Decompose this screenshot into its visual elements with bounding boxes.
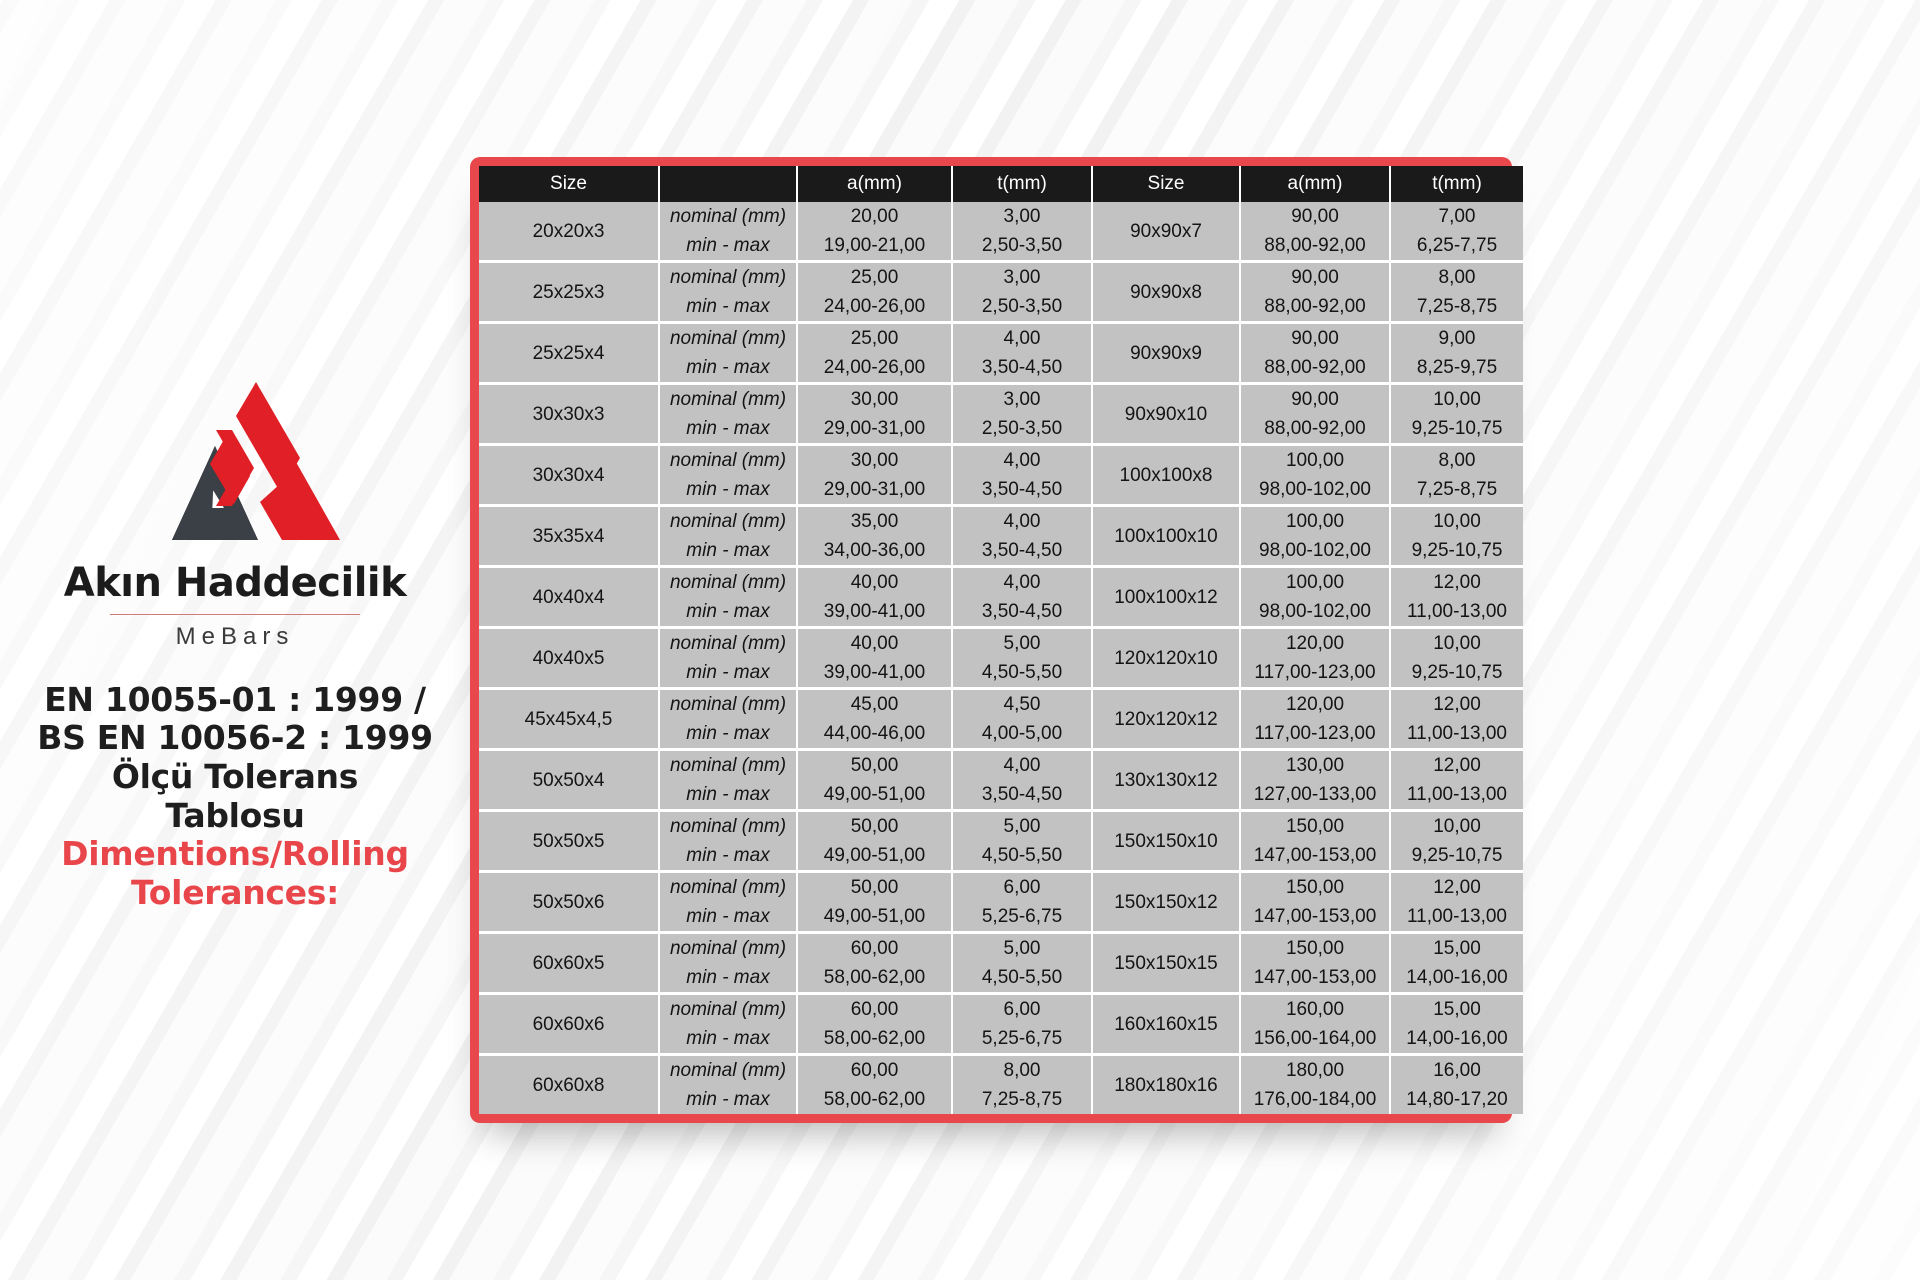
table-row: 40x40x5nominal (mm)40,005,00120x120x1012… (479, 628, 1523, 659)
cell-a-minmax-right: 98,00-102,00 (1240, 475, 1390, 506)
cell-size-right: 90x90x7 (1092, 202, 1240, 262)
cell-t-nominal-left: 3,00 (952, 384, 1092, 415)
cell-t-nominal-right: 9,00 (1390, 323, 1523, 354)
header-t-right: t(mm) (1390, 166, 1523, 202)
cell-a-minmax-left: 44,00-46,00 (797, 719, 952, 750)
cell-t-minmax-left: 5,25-6,75 (952, 902, 1092, 933)
cell-t-nominal-right: 12,00 (1390, 689, 1523, 720)
cell-t-nominal-left: 8,00 (952, 1055, 1092, 1086)
cell-a-minmax-right: 147,00-153,00 (1240, 841, 1390, 872)
cell-label-nominal: nominal (mm) (659, 1055, 797, 1086)
cell-size-left: 50x50x6 (479, 872, 659, 933)
cell-size-right: 160x160x15 (1092, 994, 1240, 1055)
cell-label-nominal: nominal (mm) (659, 811, 797, 842)
cell-a-nominal-left: 60,00 (797, 933, 952, 964)
cell-size-left: 45x45x4,5 (479, 689, 659, 750)
cell-t-nominal-right: 12,00 (1390, 872, 1523, 903)
cell-size-right: 150x150x15 (1092, 933, 1240, 994)
table-row: 45x45x4,5nominal (mm)45,004,50120x120x12… (479, 689, 1523, 720)
cell-a-nominal-right: 90,00 (1240, 202, 1390, 231)
cell-size-left: 60x60x8 (479, 1055, 659, 1115)
cell-t-minmax-right: 8,25-9,75 (1390, 353, 1523, 384)
cell-a-nominal-left: 40,00 (797, 628, 952, 659)
cell-size-left: 25x25x4 (479, 323, 659, 384)
title-red-line-1: Dimentions/Rolling (37, 835, 433, 874)
cell-t-minmax-right: 14,00-16,00 (1390, 1024, 1523, 1055)
cell-t-minmax-left: 4,50-5,50 (952, 658, 1092, 689)
cell-a-nominal-left: 50,00 (797, 811, 952, 842)
cell-label-nominal: nominal (mm) (659, 567, 797, 598)
cell-size-left: 60x60x6 (479, 994, 659, 1055)
cell-t-minmax-left: 3,50-4,50 (952, 475, 1092, 506)
cell-t-nominal-right: 16,00 (1390, 1055, 1523, 1086)
cell-a-minmax-right: 98,00-102,00 (1240, 597, 1390, 628)
cell-a-minmax-right: 147,00-153,00 (1240, 902, 1390, 933)
cell-size-right: 180x180x16 (1092, 1055, 1240, 1115)
cell-t-minmax-left: 2,50-3,50 (952, 292, 1092, 323)
cell-a-nominal-right: 150,00 (1240, 811, 1390, 842)
table-row: 50x50x4nominal (mm)50,004,00130x130x1213… (479, 750, 1523, 781)
cell-a-minmax-right: 127,00-133,00 (1240, 780, 1390, 811)
cell-a-nominal-left: 30,00 (797, 445, 952, 476)
cell-a-minmax-left: 58,00-62,00 (797, 963, 952, 994)
cell-a-minmax-left: 58,00-62,00 (797, 1024, 952, 1055)
cell-label-minmax: min - max (659, 1024, 797, 1055)
cell-t-nominal-right: 7,00 (1390, 202, 1523, 231)
cell-size-left: 40x40x4 (479, 567, 659, 628)
brand-divider (110, 614, 360, 615)
cell-size-left: 50x50x5 (479, 811, 659, 872)
cell-size-left: 35x35x4 (479, 506, 659, 567)
cell-t-minmax-right: 6,25-7,75 (1390, 231, 1523, 262)
table-header-row: Size a(mm) t(mm) Size a(mm) t(mm) (479, 166, 1523, 202)
page-root: Akın Haddecilik MeBars EN 10055-01 : 199… (0, 0, 1920, 1280)
header-t-left: t(mm) (952, 166, 1092, 202)
cell-t-minmax-left: 5,25-6,75 (952, 1024, 1092, 1055)
cell-t-minmax-left: 4,00-5,00 (952, 719, 1092, 750)
cell-t-nominal-right: 15,00 (1390, 933, 1523, 964)
cell-t-nominal-left: 5,00 (952, 811, 1092, 842)
cell-a-minmax-right: 117,00-123,00 (1240, 658, 1390, 689)
cell-size-left: 25x25x3 (479, 262, 659, 323)
akin-haddecilik-logo-icon (110, 368, 360, 548)
cell-size-right: 150x150x10 (1092, 811, 1240, 872)
cell-a-nominal-right: 100,00 (1240, 506, 1390, 537)
cell-label-nominal: nominal (mm) (659, 384, 797, 415)
cell-size-right: 100x100x10 (1092, 506, 1240, 567)
cell-label-minmax: min - max (659, 1085, 797, 1114)
cell-a-nominal-left: 25,00 (797, 262, 952, 293)
cell-a-minmax-left: 49,00-51,00 (797, 780, 952, 811)
cell-label-minmax: min - max (659, 780, 797, 811)
cell-label-nominal: nominal (mm) (659, 689, 797, 720)
cell-t-minmax-right: 9,25-10,75 (1390, 841, 1523, 872)
table-row: 30x30x3nominal (mm)30,003,0090x90x1090,0… (479, 384, 1523, 415)
cell-label-minmax: min - max (659, 719, 797, 750)
cell-a-nominal-right: 120,00 (1240, 628, 1390, 659)
cell-t-nominal-left: 4,00 (952, 323, 1092, 354)
cell-t-nominal-right: 12,00 (1390, 750, 1523, 781)
cell-label-nominal: nominal (mm) (659, 628, 797, 659)
title-line-1: EN 10055-01 : 1999 / (37, 681, 433, 720)
brand-subtitle: MeBars (176, 623, 295, 651)
cell-a-nominal-right: 130,00 (1240, 750, 1390, 781)
cell-a-nominal-right: 90,00 (1240, 323, 1390, 354)
header-measure-type (659, 166, 797, 202)
cell-a-minmax-right: 88,00-92,00 (1240, 231, 1390, 262)
cell-t-nominal-left: 3,00 (952, 262, 1092, 293)
cell-t-minmax-left: 3,50-4,50 (952, 353, 1092, 384)
cell-t-nominal-left: 5,00 (952, 933, 1092, 964)
cell-a-minmax-left: 24,00-26,00 (797, 292, 952, 323)
cell-size-left: 30x30x3 (479, 384, 659, 445)
cell-a-minmax-left: 19,00-21,00 (797, 231, 952, 262)
cell-t-nominal-left: 4,00 (952, 445, 1092, 476)
table-row: 40x40x4nominal (mm)40,004,00100x100x1210… (479, 567, 1523, 598)
cell-t-nominal-right: 8,00 (1390, 445, 1523, 476)
cell-a-minmax-right: 88,00-92,00 (1240, 353, 1390, 384)
cell-t-minmax-right: 7,25-8,75 (1390, 292, 1523, 323)
cell-label-nominal: nominal (mm) (659, 872, 797, 903)
cell-label-nominal: nominal (mm) (659, 750, 797, 781)
cell-size-left: 60x60x5 (479, 933, 659, 994)
cell-size-right: 130x130x12 (1092, 750, 1240, 811)
cell-a-minmax-left: 29,00-31,00 (797, 414, 952, 445)
table-row: 50x50x6nominal (mm)50,006,00150x150x1215… (479, 872, 1523, 903)
table-row: 50x50x5nominal (mm)50,005,00150x150x1015… (479, 811, 1523, 842)
cell-a-nominal-left: 60,00 (797, 994, 952, 1025)
cell-size-left: 20x20x3 (479, 202, 659, 262)
cell-t-minmax-left: 3,50-4,50 (952, 597, 1092, 628)
cell-label-minmax: min - max (659, 841, 797, 872)
cell-a-minmax-right: 117,00-123,00 (1240, 719, 1390, 750)
cell-label-nominal: nominal (mm) (659, 323, 797, 354)
cell-label-nominal: nominal (mm) (659, 933, 797, 964)
cell-size-left: 50x50x4 (479, 750, 659, 811)
table-row: 30x30x4nominal (mm)30,004,00100x100x8100… (479, 445, 1523, 476)
cell-a-minmax-right: 98,00-102,00 (1240, 536, 1390, 567)
cell-a-minmax-left: 39,00-41,00 (797, 658, 952, 689)
cell-t-minmax-right: 11,00-13,00 (1390, 719, 1523, 750)
cell-size-right: 100x100x8 (1092, 445, 1240, 506)
cell-label-minmax: min - max (659, 902, 797, 933)
cell-a-nominal-right: 100,00 (1240, 567, 1390, 598)
cell-t-minmax-right: 11,00-13,00 (1390, 597, 1523, 628)
table-body: 20x20x3nominal (mm)20,003,0090x90x790,00… (479, 202, 1523, 1114)
cell-a-nominal-left: 40,00 (797, 567, 952, 598)
cell-a-minmax-left: 58,00-62,00 (797, 1085, 952, 1114)
table-row: 20x20x3nominal (mm)20,003,0090x90x790,00… (479, 202, 1523, 231)
cell-label-minmax: min - max (659, 963, 797, 994)
cell-a-nominal-right: 120,00 (1240, 689, 1390, 720)
title-red-line-2: Tolerances: (37, 874, 433, 913)
cell-t-nominal-left: 4,00 (952, 567, 1092, 598)
header-size-right: Size (1092, 166, 1240, 202)
cell-a-nominal-left: 25,00 (797, 323, 952, 354)
cell-a-nominal-left: 30,00 (797, 384, 952, 415)
brand-name: Akın Haddecilik (64, 562, 406, 604)
table-row: 60x60x5nominal (mm)60,005,00150x150x1515… (479, 933, 1523, 964)
cell-t-nominal-left: 5,00 (952, 628, 1092, 659)
cell-t-nominal-right: 8,00 (1390, 262, 1523, 293)
cell-label-nominal: nominal (mm) (659, 994, 797, 1025)
cell-t-minmax-right: 7,25-8,75 (1390, 475, 1523, 506)
cell-t-minmax-right: 9,25-10,75 (1390, 414, 1523, 445)
cell-t-minmax-left: 3,50-4,50 (952, 536, 1092, 567)
title-line-4: Tablosu (37, 797, 433, 836)
cell-a-minmax-right: 88,00-92,00 (1240, 292, 1390, 323)
cell-label-minmax: min - max (659, 292, 797, 323)
cell-a-nominal-left: 50,00 (797, 872, 952, 903)
table-row: 25x25x3nominal (mm)25,003,0090x90x890,00… (479, 262, 1523, 293)
cell-t-nominal-left: 4,00 (952, 750, 1092, 781)
cell-a-minmax-right: 147,00-153,00 (1240, 963, 1390, 994)
cell-a-nominal-left: 60,00 (797, 1055, 952, 1086)
cell-t-minmax-right: 11,00-13,00 (1390, 780, 1523, 811)
header-a-left: a(mm) (797, 166, 952, 202)
cell-t-minmax-right: 9,25-10,75 (1390, 658, 1523, 689)
cell-t-nominal-right: 10,00 (1390, 628, 1523, 659)
title-line-2: BS EN 10056-2 : 1999 (37, 719, 433, 758)
cell-label-minmax: min - max (659, 658, 797, 689)
cell-label-minmax: min - max (659, 597, 797, 628)
cell-a-nominal-right: 90,00 (1240, 384, 1390, 415)
header-size-left: Size (479, 166, 659, 202)
cell-label-minmax: min - max (659, 414, 797, 445)
cell-a-minmax-left: 34,00-36,00 (797, 536, 952, 567)
cell-size-right: 90x90x10 (1092, 384, 1240, 445)
cell-t-nominal-right: 10,00 (1390, 811, 1523, 842)
table-header: Size a(mm) t(mm) Size a(mm) t(mm) (479, 166, 1523, 202)
cell-size-right: 120x120x12 (1092, 689, 1240, 750)
cell-label-nominal: nominal (mm) (659, 262, 797, 293)
cell-a-nominal-right: 150,00 (1240, 933, 1390, 964)
table-row: 25x25x4nominal (mm)25,004,0090x90x990,00… (479, 323, 1523, 354)
table-row: 60x60x6nominal (mm)60,006,00160x160x1516… (479, 994, 1523, 1025)
cell-a-nominal-right: 100,00 (1240, 445, 1390, 476)
cell-t-nominal-left: 4,50 (952, 689, 1092, 720)
cell-label-minmax: min - max (659, 231, 797, 262)
cell-a-minmax-right: 88,00-92,00 (1240, 414, 1390, 445)
cell-a-minmax-left: 29,00-31,00 (797, 475, 952, 506)
table-row: 35x35x4nominal (mm)35,004,00100x100x1010… (479, 506, 1523, 537)
cell-a-nominal-left: 20,00 (797, 202, 952, 231)
table-area: Size a(mm) t(mm) Size a(mm) t(mm) 20x20x… (470, 0, 1920, 1280)
cell-t-nominal-left: 4,00 (952, 506, 1092, 537)
cell-a-minmax-right: 156,00-164,00 (1240, 1024, 1390, 1055)
cell-a-minmax-left: 49,00-51,00 (797, 902, 952, 933)
cell-a-minmax-right: 176,00-184,00 (1240, 1085, 1390, 1114)
table-row: 60x60x8nominal (mm)60,008,00180x180x1618… (479, 1055, 1523, 1086)
cell-a-nominal-right: 150,00 (1240, 872, 1390, 903)
cell-t-minmax-right: 11,00-13,00 (1390, 902, 1523, 933)
cell-size-left: 40x40x5 (479, 628, 659, 689)
cell-size-right: 90x90x8 (1092, 262, 1240, 323)
cell-label-nominal: nominal (mm) (659, 202, 797, 231)
cell-t-minmax-left: 2,50-3,50 (952, 231, 1092, 262)
sidebar: Akın Haddecilik MeBars EN 10055-01 : 199… (0, 0, 470, 1280)
cell-t-nominal-left: 6,00 (952, 994, 1092, 1025)
cell-t-nominal-right: 10,00 (1390, 506, 1523, 537)
cell-label-nominal: nominal (mm) (659, 445, 797, 476)
cell-a-minmax-left: 49,00-51,00 (797, 841, 952, 872)
cell-label-minmax: min - max (659, 353, 797, 384)
cell-t-minmax-left: 3,50-4,50 (952, 780, 1092, 811)
cell-label-minmax: min - max (659, 536, 797, 567)
cell-size-right: 100x100x12 (1092, 567, 1240, 628)
title-line-3: Ölçü Tolerans (37, 758, 433, 797)
cell-t-minmax-right: 14,00-16,00 (1390, 963, 1523, 994)
cell-a-nominal-left: 45,00 (797, 689, 952, 720)
cell-t-minmax-left: 4,50-5,50 (952, 841, 1092, 872)
cell-t-minmax-right: 14,80-17,20 (1390, 1085, 1523, 1114)
cell-t-minmax-left: 2,50-3,50 (952, 414, 1092, 445)
cell-size-right: 90x90x9 (1092, 323, 1240, 384)
cell-label-minmax: min - max (659, 475, 797, 506)
cell-a-minmax-left: 39,00-41,00 (797, 597, 952, 628)
cell-label-nominal: nominal (mm) (659, 506, 797, 537)
tolerance-table-card: Size a(mm) t(mm) Size a(mm) t(mm) 20x20x… (470, 157, 1512, 1123)
cell-size-left: 30x30x4 (479, 445, 659, 506)
cell-t-nominal-right: 15,00 (1390, 994, 1523, 1025)
cell-t-minmax-left: 7,25-8,75 (952, 1085, 1092, 1114)
cell-size-right: 150x150x12 (1092, 872, 1240, 933)
cell-a-nominal-right: 90,00 (1240, 262, 1390, 293)
cell-t-nominal-left: 6,00 (952, 872, 1092, 903)
cell-a-minmax-left: 24,00-26,00 (797, 353, 952, 384)
cell-t-minmax-left: 4,50-5,50 (952, 963, 1092, 994)
tolerance-table: Size a(mm) t(mm) Size a(mm) t(mm) 20x20x… (479, 166, 1523, 1114)
cell-t-minmax-right: 9,25-10,75 (1390, 536, 1523, 567)
cell-t-nominal-left: 3,00 (952, 202, 1092, 231)
cell-a-nominal-left: 50,00 (797, 750, 952, 781)
cell-a-nominal-right: 160,00 (1240, 994, 1390, 1025)
cell-a-nominal-left: 35,00 (797, 506, 952, 537)
cell-t-nominal-right: 12,00 (1390, 567, 1523, 598)
cell-t-nominal-right: 10,00 (1390, 384, 1523, 415)
header-a-right: a(mm) (1240, 166, 1390, 202)
cell-size-right: 120x120x10 (1092, 628, 1240, 689)
cell-a-nominal-right: 180,00 (1240, 1055, 1390, 1086)
title-block: EN 10055-01 : 1999 / BS EN 10056-2 : 199… (37, 681, 433, 913)
